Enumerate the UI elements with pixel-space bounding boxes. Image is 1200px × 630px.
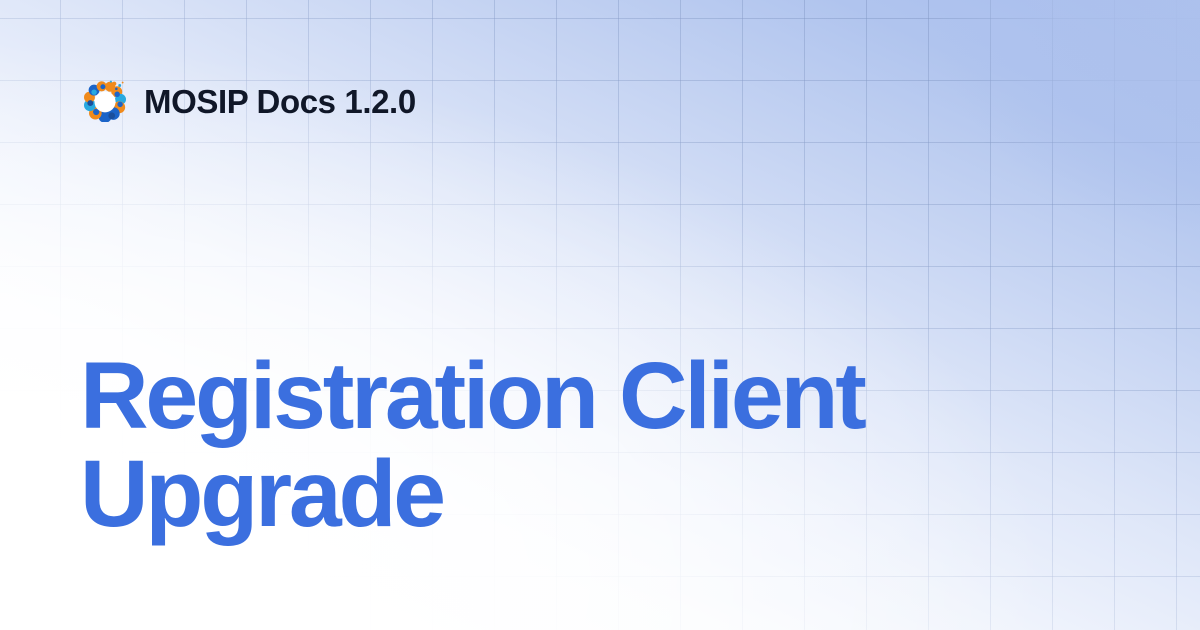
page-title: Registration Client Upgrade (80, 348, 1080, 544)
og-social-card: MOSIP Docs 1.2.0 Registration Client Upg… (0, 0, 1200, 630)
brand-title: MOSIP Docs 1.2.0 (144, 85, 416, 118)
mosip-ring-logo-icon (84, 80, 126, 122)
brand-row: MOSIP Docs 1.2.0 (84, 80, 416, 122)
